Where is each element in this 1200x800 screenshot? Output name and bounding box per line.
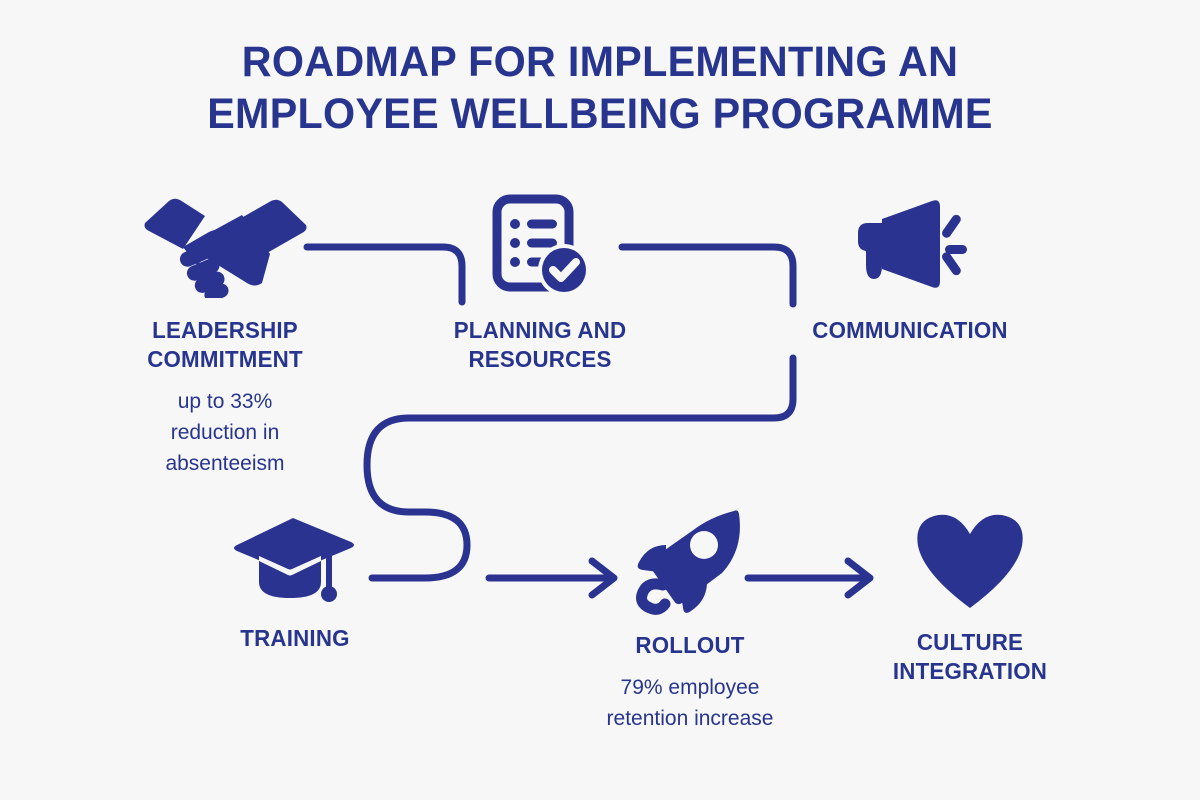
step-training[interactable]: TRAINING xyxy=(165,516,425,653)
step-stat-rollout: 79% employee retention increase xyxy=(545,672,835,734)
step-planning-and-resources[interactable]: PLANNING AND RESOURCES xyxy=(405,193,675,374)
step-culture-integration[interactable]: CULTURE INTEGRATION xyxy=(830,512,1110,686)
rocket-icon xyxy=(630,505,750,615)
step-label-communication: COMMUNICATION xyxy=(745,316,1075,345)
step-rollout[interactable]: ROLLOUT 79% employee retention increase xyxy=(545,505,835,734)
graduation-cap-icon xyxy=(233,516,358,608)
page-title-line-1: ROADMAP FOR IMPLEMENTING AN xyxy=(24,36,1176,88)
page-title: ROADMAP FOR IMPLEMENTING AN EMPLOYEE WEL… xyxy=(24,36,1176,140)
heart-icon xyxy=(914,512,1026,612)
infographic-canvas: ROADMAP FOR IMPLEMENTING AN EMPLOYEE WEL… xyxy=(0,0,1200,800)
step-label-training: TRAINING xyxy=(169,624,421,653)
step-leadership-commitment[interactable]: LEADERSHIP COMMITMENT up to 33% reductio… xyxy=(85,193,365,479)
handshake-icon xyxy=(143,193,308,298)
step-label-rollout: ROLLOUT xyxy=(549,631,830,660)
step-label-planning: PLANNING AND RESOURCES xyxy=(409,316,671,374)
checklist-document-icon xyxy=(485,193,595,298)
step-label-leadership: LEADERSHIP COMMITMENT xyxy=(89,316,361,374)
step-label-culture: CULTURE INTEGRATION xyxy=(834,628,1106,686)
step-communication[interactable]: COMMUNICATION xyxy=(740,193,1080,345)
step-stat-leadership: up to 33% reduction in absenteeism xyxy=(85,386,365,479)
page-title-line-2: EMPLOYEE WELLBEING PROGRAMME xyxy=(24,88,1176,140)
megaphone-icon xyxy=(848,193,973,298)
